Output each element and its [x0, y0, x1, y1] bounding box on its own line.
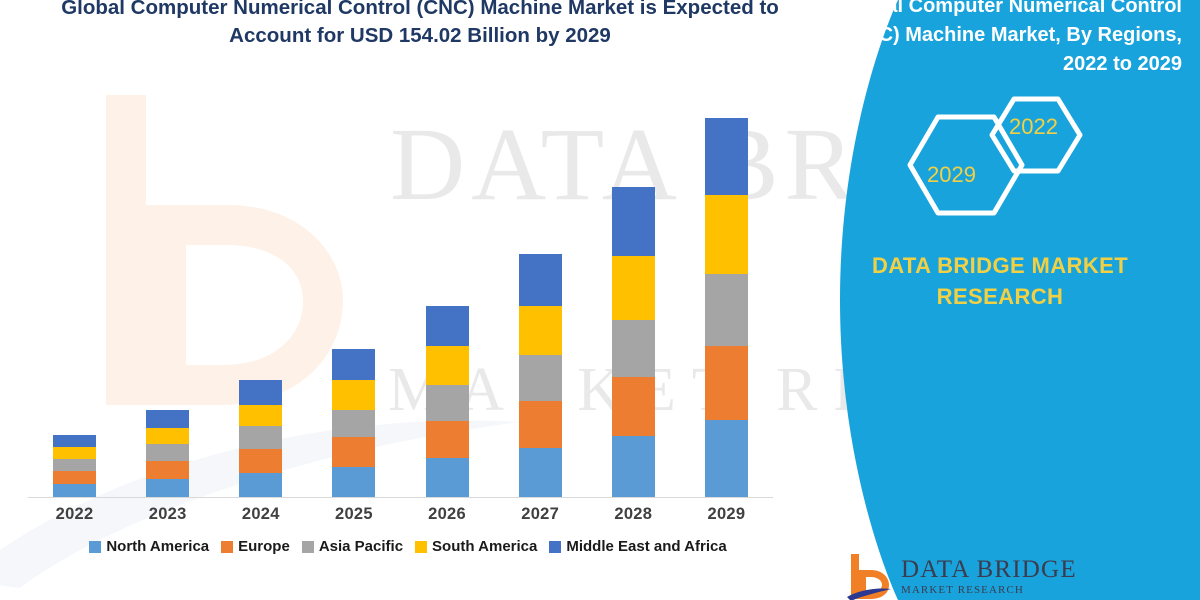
bar-segment[interactable]	[53, 447, 96, 459]
bar-segment[interactable]	[239, 473, 282, 497]
bar-slot	[28, 110, 121, 497]
bar-segment[interactable]	[519, 448, 562, 497]
footer-logo-mark-icon	[845, 553, 891, 600]
hexagon-2029-label: 2029	[927, 162, 976, 188]
legend-item[interactable]: Europe	[221, 538, 290, 555]
bar-segment[interactable]	[426, 306, 469, 346]
bar-slot	[121, 110, 214, 497]
bar-segment[interactable]	[426, 346, 469, 385]
legend-label: Middle East and Africa	[566, 538, 726, 555]
bar-segment[interactable]	[705, 274, 748, 346]
bar-slot	[587, 110, 680, 497]
chart-plot-area	[28, 110, 788, 498]
bar-segment[interactable]	[332, 437, 375, 466]
x-axis-label-2029: 2029	[680, 505, 773, 524]
bar-segment[interactable]	[612, 256, 655, 320]
stacked-bar-2028[interactable]	[612, 187, 655, 497]
bar-segment[interactable]	[705, 346, 748, 420]
bar-segment[interactable]	[612, 320, 655, 377]
legend-item[interactable]: South America	[415, 538, 537, 555]
bar-segment[interactable]	[146, 479, 189, 498]
bar-segment[interactable]	[332, 410, 375, 438]
bar-segment[interactable]	[146, 410, 189, 428]
legend-label: North America	[106, 538, 209, 555]
bar-segment[interactable]	[332, 349, 375, 380]
legend-item[interactable]: Middle East and Africa	[549, 538, 726, 555]
bar-segment[interactable]	[53, 471, 96, 484]
hexagon-year-badges: 2029 2022	[880, 95, 1180, 235]
bar-segment[interactable]	[239, 380, 282, 404]
bar-segment[interactable]	[239, 405, 282, 427]
x-axis-label-2026: 2026	[401, 505, 494, 524]
legend-label: South America	[432, 538, 537, 555]
bar-segment[interactable]	[612, 187, 655, 255]
bar-segment[interactable]	[612, 436, 655, 497]
bar-segment[interactable]	[146, 444, 189, 461]
panel-title: Global Computer Numerical Control (CNC) …	[822, 0, 1182, 79]
legend-swatch-icon	[302, 541, 314, 553]
bar-segment[interactable]	[332, 467, 375, 497]
bar-segment[interactable]	[53, 435, 96, 448]
right-panel: Global Computer Numerical Control (CNC) …	[780, 0, 1200, 600]
legend-label: Asia Pacific	[319, 538, 403, 555]
stacked-bar-2024[interactable]	[239, 380, 282, 497]
bar-segment[interactable]	[332, 380, 375, 409]
legend-item[interactable]: Asia Pacific	[302, 538, 403, 555]
footer-logo-subtitle: MARKET RESEARCH	[901, 585, 1077, 597]
bar-slot	[214, 110, 307, 497]
bar-segment[interactable]	[705, 195, 748, 274]
bar-slot	[401, 110, 494, 497]
stacked-bar-2026[interactable]	[426, 306, 469, 497]
bar-segment[interactable]	[53, 459, 96, 471]
bar-segment[interactable]	[146, 428, 189, 444]
x-axis-label-2023: 2023	[121, 505, 214, 524]
bar-slot	[494, 110, 587, 497]
bar-segment[interactable]	[705, 118, 748, 195]
bar-segment[interactable]	[519, 306, 562, 355]
stacked-bar-2029[interactable]	[705, 118, 748, 497]
x-axis-label-2022: 2022	[28, 505, 121, 524]
bar-segment[interactable]	[519, 254, 562, 306]
bar-segment[interactable]	[426, 458, 469, 497]
x-axis-label-2025: 2025	[307, 505, 400, 524]
bar-slot	[680, 110, 773, 497]
bar-segment[interactable]	[426, 385, 469, 421]
chart-title: Global Computer Numerical Control (CNC) …	[30, 0, 810, 50]
x-axis-label-2027: 2027	[494, 505, 587, 524]
bar-segment[interactable]	[426, 421, 469, 458]
bar-segment[interactable]	[239, 426, 282, 449]
bar-slot	[307, 110, 400, 497]
footer-logo-brand: DATA BRIDGE	[901, 557, 1077, 583]
stacked-bar-2023[interactable]	[146, 410, 189, 497]
legend-swatch-icon	[415, 541, 427, 553]
bar-group	[28, 110, 773, 497]
stacked-bar-2027[interactable]	[519, 254, 562, 497]
chart-legend: North AmericaEuropeAsia PacificSouth Ame…	[28, 538, 788, 555]
legend-swatch-icon	[549, 541, 561, 553]
legend-label: Europe	[238, 538, 290, 555]
x-axis-labels: 20222023202420252026202720282029	[28, 505, 773, 524]
legend-swatch-icon	[89, 541, 101, 553]
legend-swatch-icon	[221, 541, 233, 553]
stacked-bar-2022[interactable]	[53, 435, 96, 497]
bar-segment[interactable]	[239, 449, 282, 473]
bar-segment[interactable]	[612, 377, 655, 436]
x-axis-label-2028: 2028	[587, 505, 680, 524]
hexagon-2022-label: 2022	[1009, 114, 1058, 140]
legend-item[interactable]: North America	[89, 538, 209, 555]
footer-logo: DATA BRIDGE MARKET RESEARCH	[845, 548, 1105, 600]
x-axis-line	[28, 497, 773, 498]
bar-segment[interactable]	[53, 484, 96, 497]
bar-segment[interactable]	[519, 401, 562, 448]
infographic-canvas: DATA BRIDGE MARKET RESEARCH Global Compu…	[0, 0, 1200, 600]
bar-segment[interactable]	[519, 355, 562, 401]
panel-brand-name: DATA BRIDGE MARKET RESEARCH	[820, 250, 1180, 312]
x-axis-label-2024: 2024	[214, 505, 307, 524]
bar-segment[interactable]	[705, 420, 748, 497]
bar-segment[interactable]	[146, 461, 189, 479]
stacked-bar-2025[interactable]	[332, 349, 375, 497]
